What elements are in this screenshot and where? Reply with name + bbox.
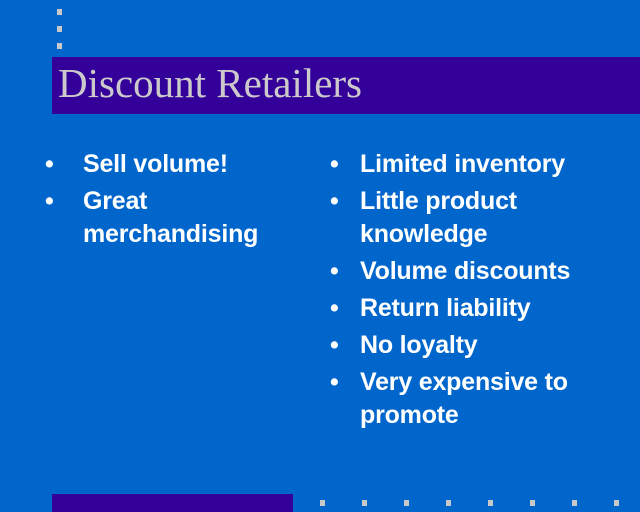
decoration-square-icon (404, 500, 409, 506)
bullet-point-icon: • (40, 185, 83, 218)
bullet-point-icon: • (325, 148, 360, 181)
decoration-square-icon (362, 500, 367, 506)
bullet-text: Great merchandising (83, 185, 325, 251)
title-banner: Discount Retailers (52, 57, 640, 114)
bullet-item: •Return liability (325, 292, 625, 325)
bullet-point-icon: • (325, 185, 360, 218)
bullet-item: •No loyalty (325, 329, 625, 362)
bullet-point-icon: • (40, 148, 83, 181)
bullet-text: Sell volume! (83, 148, 325, 181)
bullet-item: •Sell volume! (40, 148, 325, 181)
bullet-column-left: •Sell volume!•Great merchandising (40, 148, 325, 255)
bullet-point-icon: • (325, 329, 360, 362)
bullet-text: No loyalty (360, 329, 625, 362)
decoration-square-icon (320, 500, 325, 506)
decoration-square-icon (530, 500, 535, 506)
bullet-point-icon: • (325, 255, 360, 288)
bullet-text: Very expensive to promote (360, 366, 625, 432)
bullet-item: •Very expensive to promote (325, 366, 625, 432)
bullet-point-icon: • (325, 366, 360, 399)
slide-canvas: Discount Retailers •Sell volume!•Great m… (0, 0, 640, 512)
bullet-item: •Limited inventory (325, 148, 625, 181)
bullet-text: Little product knowledge (360, 185, 625, 251)
bullet-text: Limited inventory (360, 148, 625, 181)
decoration-square-icon (614, 500, 619, 506)
decoration-square-icon (572, 500, 577, 506)
bullet-text: Return liability (360, 292, 625, 325)
slide-body: •Sell volume!•Great merchandising •Limit… (0, 148, 640, 478)
bullet-item: •Little product knowledge (325, 185, 625, 251)
top-decoration-dots (57, 0, 67, 56)
bullet-item: •Volume discounts (325, 255, 625, 288)
bullet-point-icon: • (325, 292, 360, 325)
decoration-square-icon (488, 500, 493, 506)
bullet-item: •Great merchandising (40, 185, 325, 251)
bullet-text: Volume discounts (360, 255, 625, 288)
decoration-square-icon (57, 9, 62, 15)
decoration-square-icon (446, 500, 451, 506)
decoration-square-icon (57, 26, 62, 32)
slide-title: Discount Retailers (58, 55, 362, 112)
decoration-square-icon (57, 43, 62, 49)
bullet-column-right: •Limited inventory•Little product knowle… (325, 148, 625, 436)
bottom-decoration-dots (0, 494, 640, 512)
